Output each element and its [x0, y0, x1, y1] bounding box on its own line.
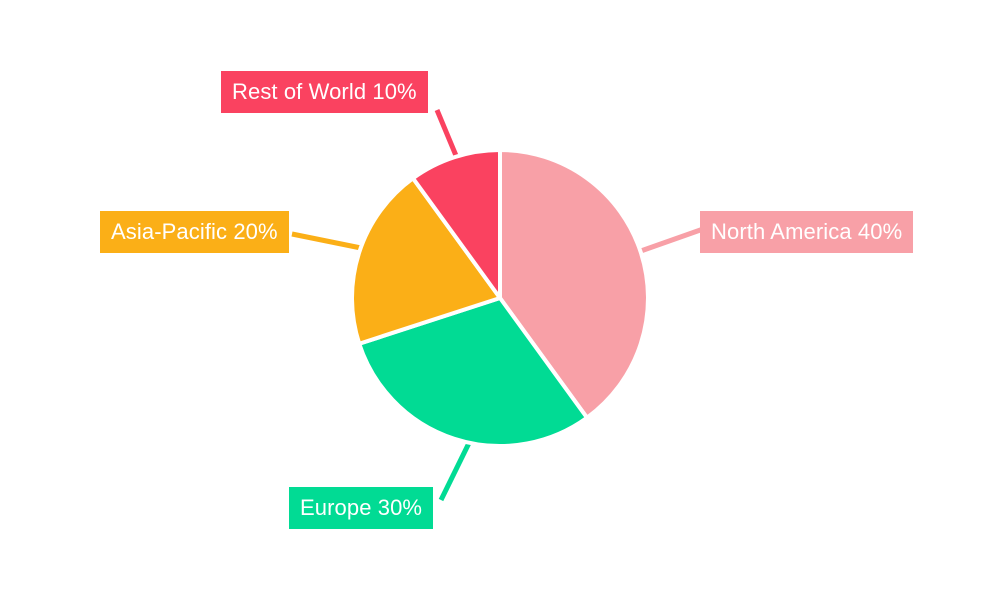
pie-label-rest-of-world-text: Rest of World 10% [232, 81, 417, 103]
pie-label-europe[interactable]: Europe 30% [289, 487, 433, 529]
pie-label-north-america[interactable]: North America 40% [700, 211, 913, 253]
pie-label-asia-pacific[interactable]: Asia-Pacific 20% [100, 211, 289, 253]
leader-line-north-america [638, 228, 706, 252]
leader-line-asia-pacific [292, 234, 361, 248]
leader-line-europe [441, 443, 469, 500]
pie-label-asia-pacific-text: Asia-Pacific 20% [111, 221, 278, 243]
pie-label-europe-text: Europe 30% [300, 497, 422, 519]
leader-line-rest-of-world [437, 110, 457, 158]
pie-label-rest-of-world[interactable]: Rest of World 10% [221, 71, 428, 113]
pie-chart-canvas [0, 0, 1000, 600]
pie-label-north-america-text: North America 40% [711, 221, 902, 243]
pie-slices [352, 150, 648, 446]
pie-chart-figure: North America 40% Europe 30% Asia-Pacifi… [0, 0, 1000, 600]
